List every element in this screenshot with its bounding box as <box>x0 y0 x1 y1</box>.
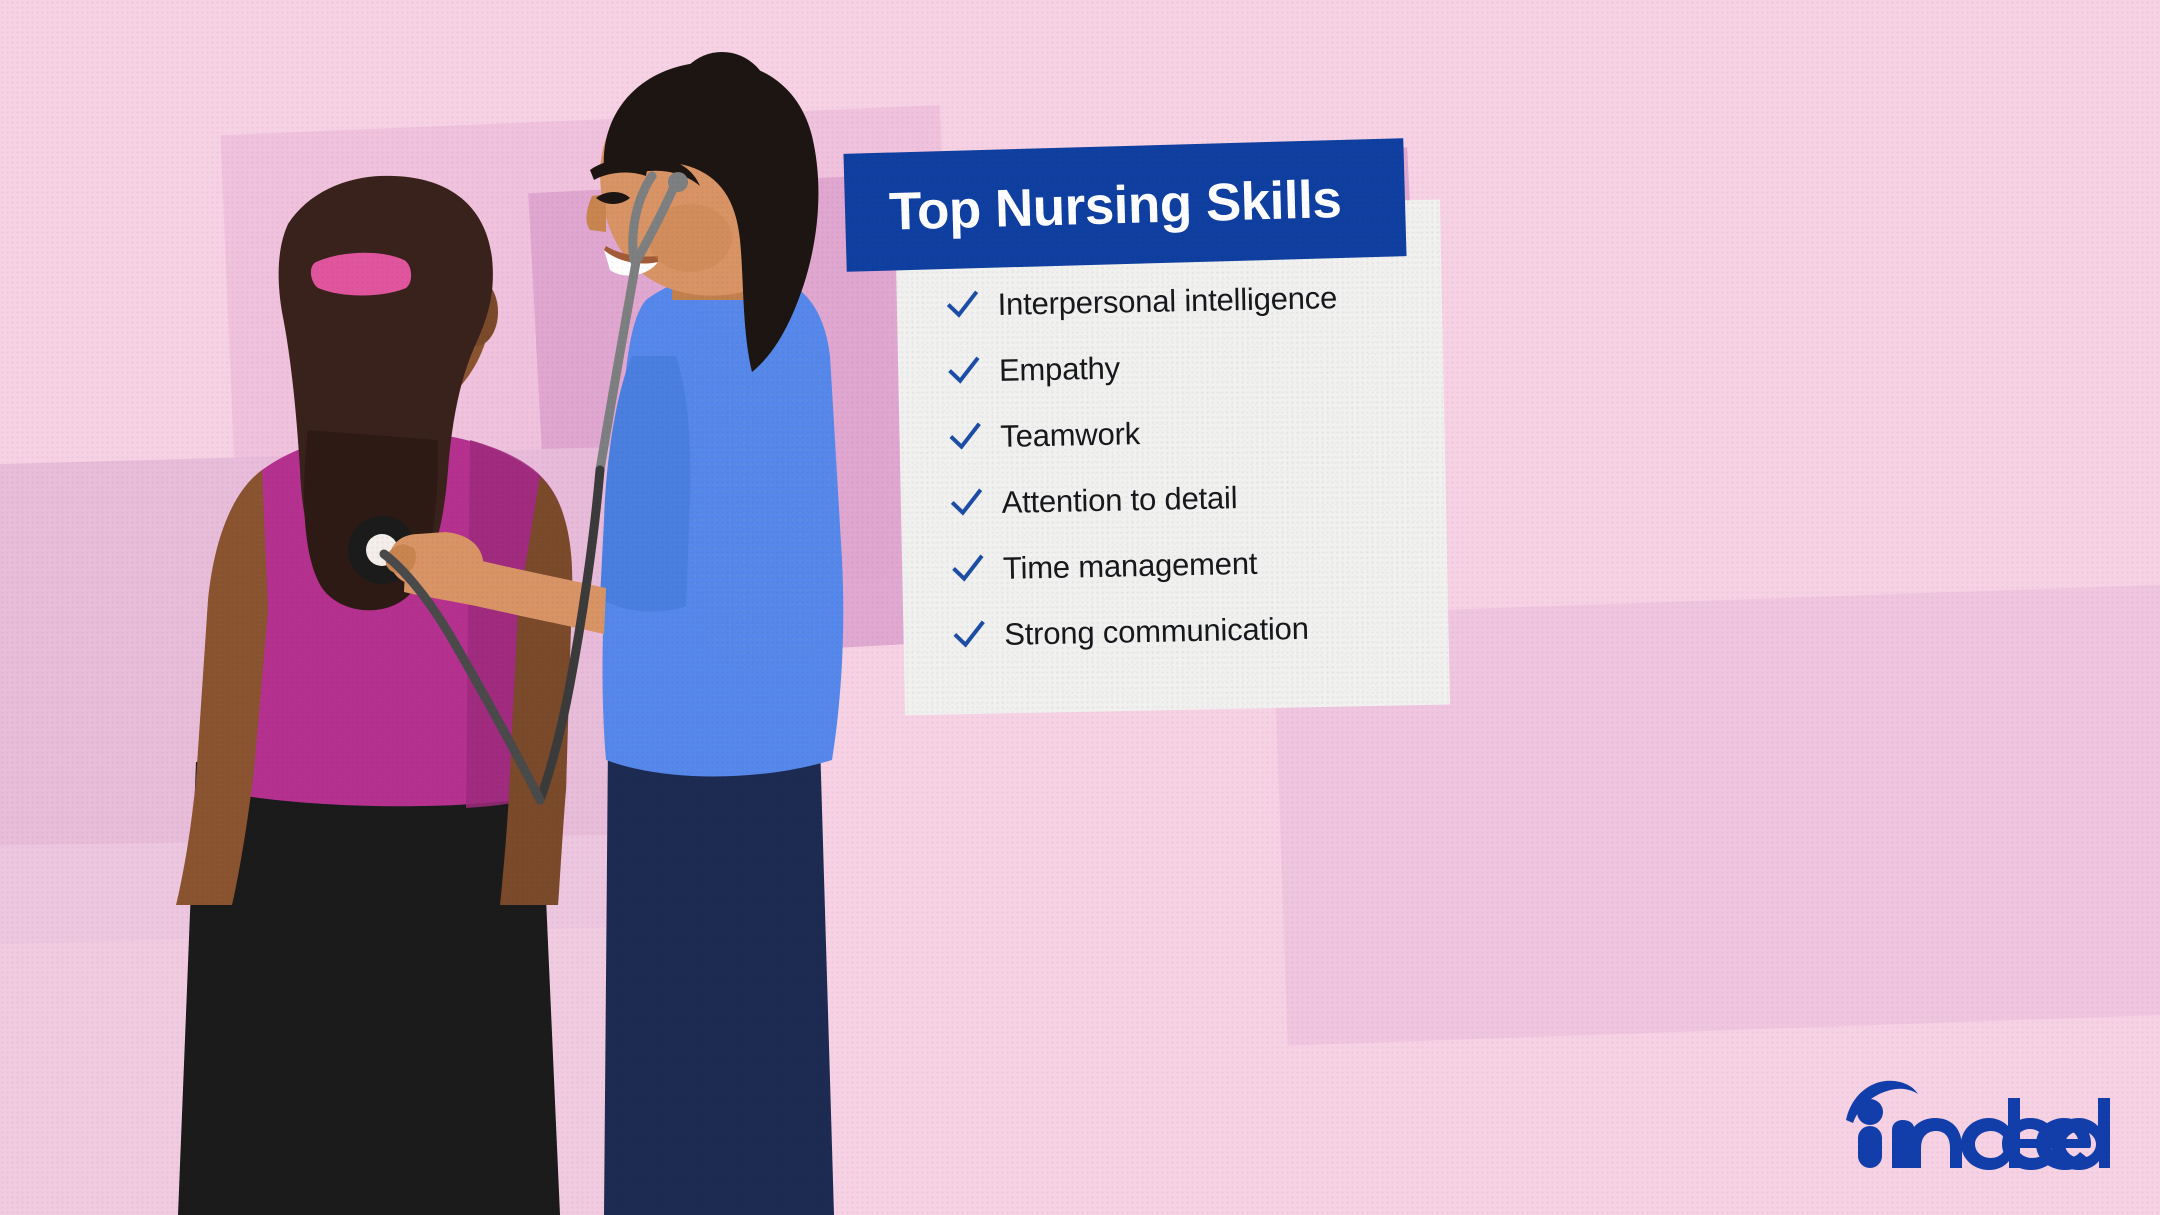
list-item: Attention to detail <box>949 460 1450 536</box>
list-item: Teamwork <box>948 394 1449 470</box>
stethoscope-earpiece-node <box>668 172 688 192</box>
check-icon <box>949 485 984 520</box>
check-icon <box>951 551 986 586</box>
list-item: Strong communication <box>952 592 1453 668</box>
skills-checklist: Interpersonal intelligence Empathy Teamw… <box>945 262 1453 668</box>
page-title: Top Nursing Skills <box>888 172 1342 238</box>
skill-label: Time management <box>1003 547 1258 583</box>
indeed-i-dot <box>1857 1099 1883 1125</box>
list-item: Interpersonal intelligence <box>945 262 1446 338</box>
title-banner: Top Nursing Skills <box>843 138 1406 272</box>
check-icon <box>947 353 982 388</box>
nurse-pants <box>604 742 834 1215</box>
check-icon <box>945 287 980 322</box>
infographic-canvas: Top Nursing Skills Interpersonal intelli… <box>0 0 2160 1215</box>
skill-label: Teamwork <box>1000 418 1140 452</box>
skill-label: Strong communication <box>1004 612 1309 649</box>
indeed-logo <box>1842 1068 2112 1173</box>
nurse-hair-bun <box>674 52 770 148</box>
patient-hair-tie <box>311 253 411 296</box>
indeed-letter-i <box>1858 1126 1882 1168</box>
skill-label: Attention to detail <box>1001 482 1237 518</box>
check-icon <box>948 419 983 454</box>
check-icon <box>952 617 987 652</box>
skill-label: Interpersonal intelligence <box>997 282 1337 320</box>
skill-label: Empathy <box>999 352 1121 385</box>
indeed-letter-n <box>1892 1118 1962 1168</box>
list-item: Time management <box>950 526 1451 602</box>
list-item: Empathy <box>946 328 1447 404</box>
